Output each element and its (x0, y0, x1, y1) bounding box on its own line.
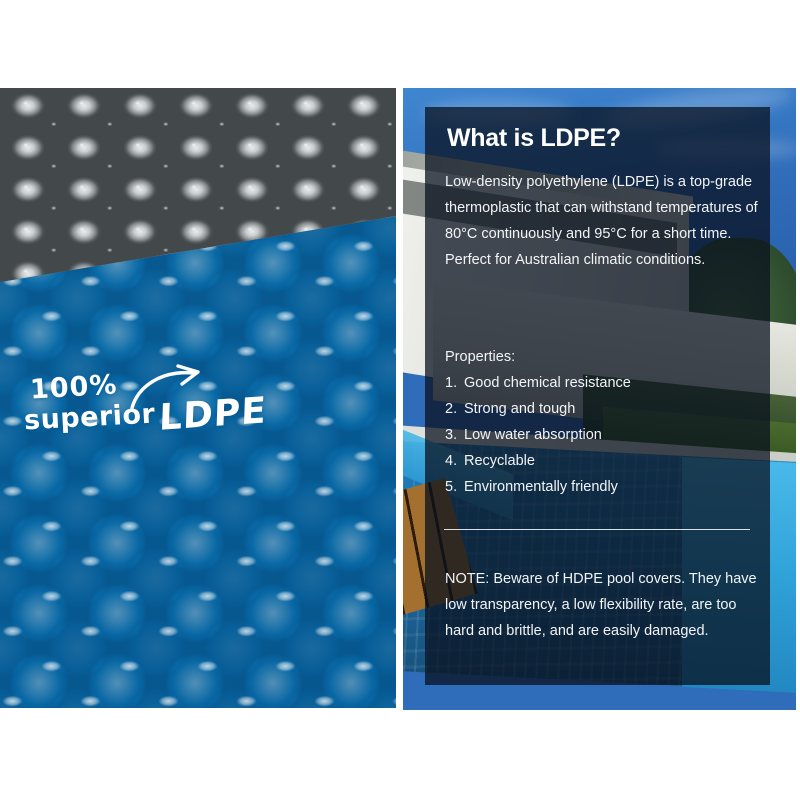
list-item-label: Environmentally friendly (464, 474, 618, 500)
list-item: 3. Low water absorption (445, 422, 761, 448)
note-text: NOTE: Beware of HDPE pool covers. They h… (445, 566, 765, 644)
list-item-label: Low water absorption (464, 422, 602, 448)
list-item-label: Recyclable (464, 448, 535, 474)
infographic-canvas: 100% superior LDPE What is LDPE? Low-den… (0, 0, 800, 800)
list-item: 1. Good chemical resistance (445, 370, 761, 396)
properties-list: 1. Good chemical resistance 2. Strong an… (445, 370, 761, 500)
list-item-number: 3. (445, 422, 461, 448)
list-item-label: Good chemical resistance (464, 370, 631, 396)
section-divider (444, 529, 750, 530)
bubble-wrap-product-photo: 100% superior LDPE (0, 88, 396, 708)
page-title: What is LDPE? (447, 124, 621, 153)
properties-label: Properties: (445, 344, 515, 370)
intro-paragraph: Low-density polyethylene (LDPE) is a top… (445, 169, 761, 273)
list-item: 4. Recyclable (445, 448, 761, 474)
ldpe-info-panel: What is LDPE? Low-density polyethylene (… (403, 88, 796, 710)
list-item-number: 1. (445, 370, 461, 396)
intro-text: Low-density polyethylene (LDPE) is a top… (445, 169, 761, 273)
note-section: NOTE: Beware of HDPE pool covers. They h… (445, 566, 765, 644)
list-item: 5. Environmentally friendly (445, 474, 761, 500)
info-card-overlay: What is LDPE? Low-density polyethylene (… (425, 107, 770, 685)
list-item-label: Strong and tough (464, 396, 575, 422)
list-item-number: 4. (445, 448, 461, 474)
list-item: 2. Strong and tough (445, 396, 761, 422)
list-item-number: 2. (445, 396, 461, 422)
list-item-number: 5. (445, 474, 461, 500)
